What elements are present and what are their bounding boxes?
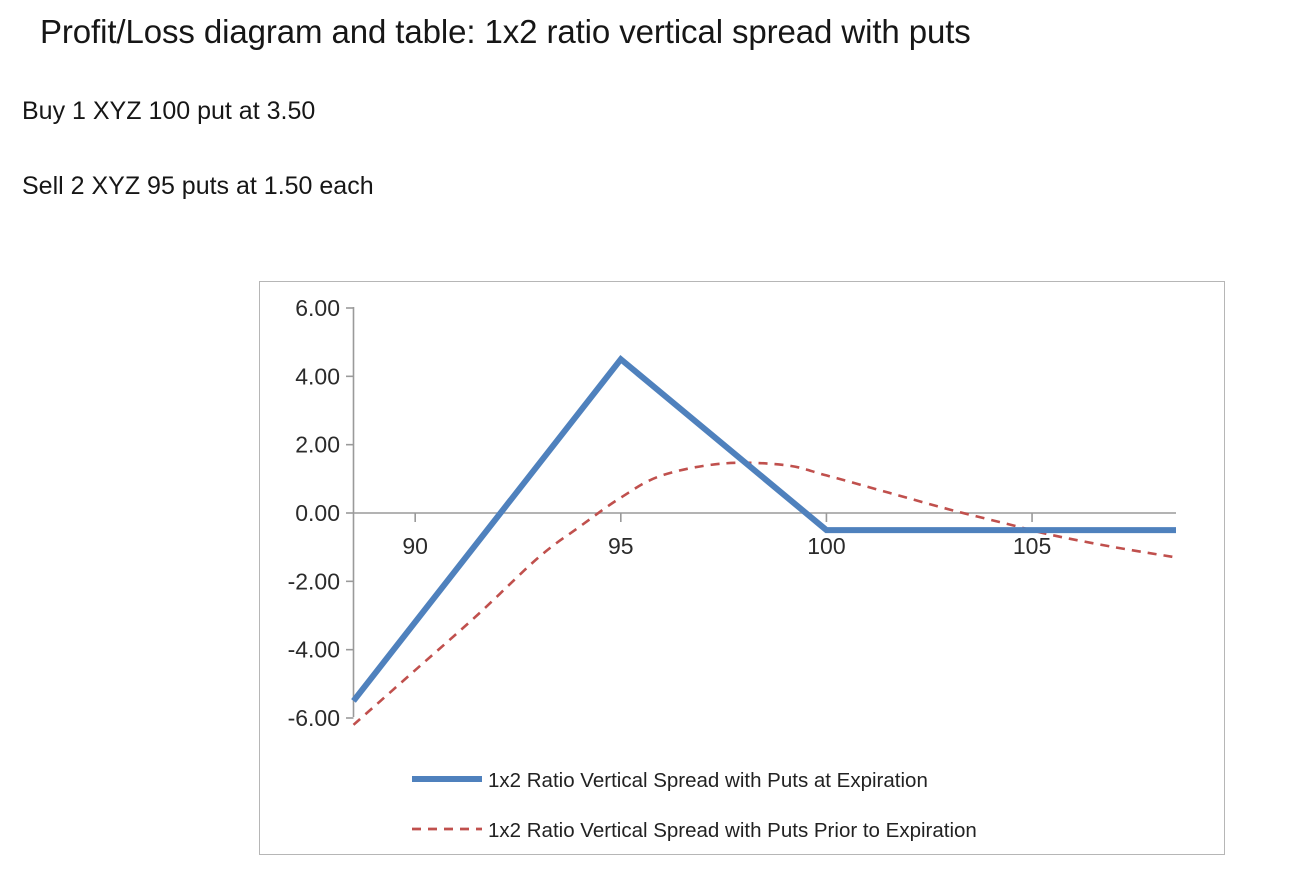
x-axis-tick-label: 105	[1013, 533, 1051, 559]
y-axis-tick-label: 4.00	[295, 363, 340, 389]
y-axis-tick-label: 6.00	[295, 295, 340, 321]
x-axis-tick-labels: 9095100105	[402, 533, 1051, 559]
x-axis-tick-label: 100	[807, 533, 845, 559]
x-axis-tick-label: 90	[402, 533, 428, 559]
trade-leg-buy-line: Buy 1 XYZ 100 put at 3.50	[22, 97, 315, 126]
y-axis-tick-label: 0.00	[295, 500, 340, 526]
y-axis-tick-label: -4.00	[288, 637, 340, 663]
y-axis-ticks	[346, 308, 354, 718]
y-axis-tick-label: 2.00	[295, 432, 340, 458]
series-line-at-expiration	[354, 359, 1177, 701]
y-axis-tick-label: -6.00	[288, 705, 340, 731]
x-axis-tick-label: 95	[608, 533, 634, 559]
y-axis-tick-labels: 6.004.002.000.00-2.00-4.00-6.00	[288, 295, 340, 731]
x-axis-ticks	[415, 513, 1032, 522]
legend-label-1: 1x2 Ratio Vertical Spread with Puts at E…	[488, 769, 928, 792]
chart-legend: 1x2 Ratio Vertical Spread with Puts at E…	[412, 769, 977, 842]
chart-container: 6.004.002.000.00-2.00-4.00-6.00 90951001…	[259, 281, 1225, 855]
page-title: Profit/Loss diagram and table: 1x2 ratio…	[40, 13, 971, 51]
trade-leg-sell-line: Sell 2 XYZ 95 puts at 1.50 each	[22, 172, 374, 201]
y-axis-tick-label: -2.00	[288, 568, 340, 594]
legend-label-2: 1x2 Ratio Vertical Spread with Puts Prio…	[488, 819, 977, 842]
profit-loss-chart: 6.004.002.000.00-2.00-4.00-6.00 90951001…	[260, 282, 1224, 854]
series-line-prior-to-expiration	[354, 463, 1177, 725]
